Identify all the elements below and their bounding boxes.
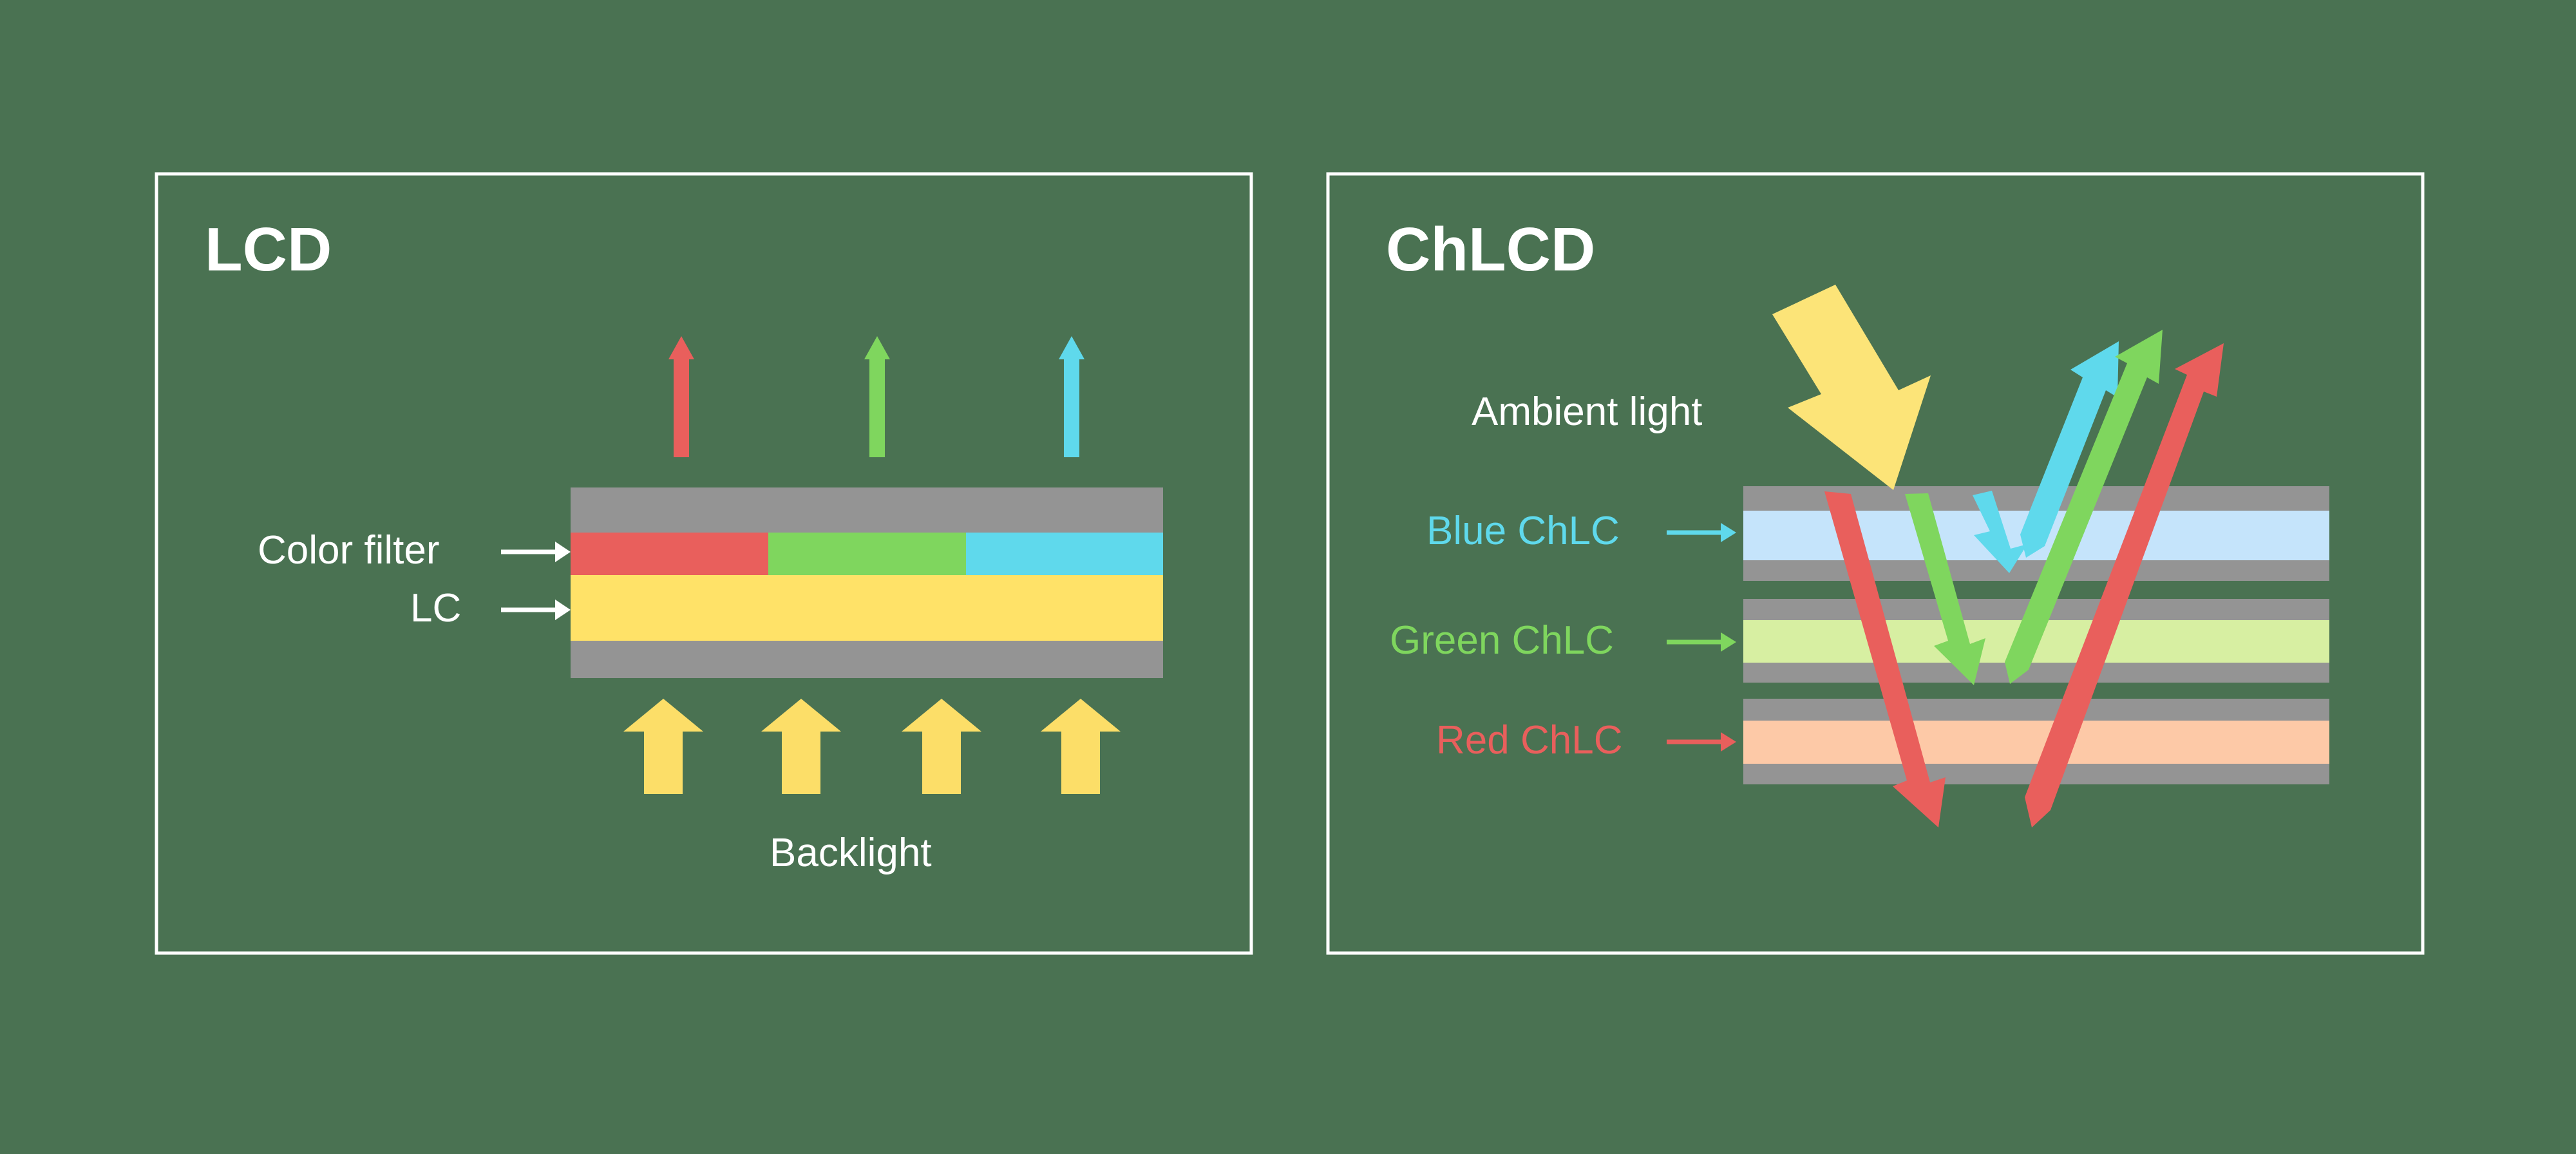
backlight-shaft-1 — [644, 726, 683, 794]
lcd-color-filter-blue — [966, 533, 1163, 575]
panel-chlcd: ChLCD Ambient light — [1328, 174, 2423, 953]
red-chlc-label: Red ChLC — [1436, 718, 1622, 762]
lcd-label-color-filter: Color filter — [258, 528, 571, 572]
lcd-top-substrate — [571, 487, 1163, 533]
backlight-arrow-1 — [623, 699, 703, 794]
lcd-panel-title: LCD — [205, 215, 332, 284]
ambient-light-arrow — [1772, 285, 1931, 490]
backlight-shaft-4 — [1061, 726, 1100, 794]
backlight-arrow-2 — [761, 699, 841, 794]
blue-chlc-label: Blue ChLC — [1426, 509, 1620, 553]
lcd-label-lc: LC — [410, 586, 571, 630]
blue-chlc-leader-arrow-icon — [1721, 523, 1736, 542]
lcd-bottom-substrate — [571, 641, 1163, 678]
lcd-emitted-rays — [668, 336, 1084, 457]
green-chlc-leader-arrow-icon — [1721, 632, 1736, 652]
chlcd-label-green: Green ChLC — [1390, 618, 1736, 663]
color-filter-leader-arrow-icon — [555, 542, 571, 562]
ambient-light-label: Ambient light — [1472, 390, 1702, 434]
ambient-light-arrow-shape — [1772, 285, 1931, 490]
backlight-arrow-4 — [1041, 699, 1121, 794]
red-out-shaft — [674, 355, 689, 457]
red-chlc-leader-arrow-icon — [1721, 732, 1736, 752]
lcd-color-filter-green — [768, 533, 966, 575]
display-comparison-diagram: LCD Color filter LC — [0, 0, 2576, 1154]
backlight-shaft-2 — [782, 726, 820, 794]
red-chlc-layer — [1743, 721, 2329, 764]
chlcd-label-red: Red ChLC — [1436, 718, 1736, 762]
lc-label: LC — [410, 586, 461, 630]
chlcd-panel-title: ChLCD — [1386, 215, 1595, 284]
green-out-shaft — [869, 355, 885, 457]
panel-lcd: LCD Color filter LC — [156, 174, 1251, 953]
blue-bottom-substrate — [1743, 560, 2329, 581]
backlight-label: Backlight — [770, 831, 932, 875]
green-chlc-label: Green ChLC — [1390, 618, 1614, 663]
backlight-shaft-3 — [922, 726, 961, 794]
lcd-layer-stack — [571, 487, 1163, 678]
lcd-backlight-rays — [623, 699, 1121, 794]
lcd-color-filter-red — [571, 533, 768, 575]
green-bottom-substrate — [1743, 663, 2329, 683]
blue-out-shaft — [1064, 355, 1079, 457]
lcd-liquid-crystal-layer — [571, 575, 1163, 641]
color-filter-label: Color filter — [258, 528, 440, 572]
lc-leader-arrow-icon — [555, 600, 571, 620]
red-top-substrate — [1743, 699, 2329, 721]
chlcd-label-blue: Blue ChLC — [1426, 509, 1736, 553]
backlight-arrow-3 — [902, 699, 981, 794]
diagram-stage: LCD Color filter LC — [0, 0, 2576, 1154]
